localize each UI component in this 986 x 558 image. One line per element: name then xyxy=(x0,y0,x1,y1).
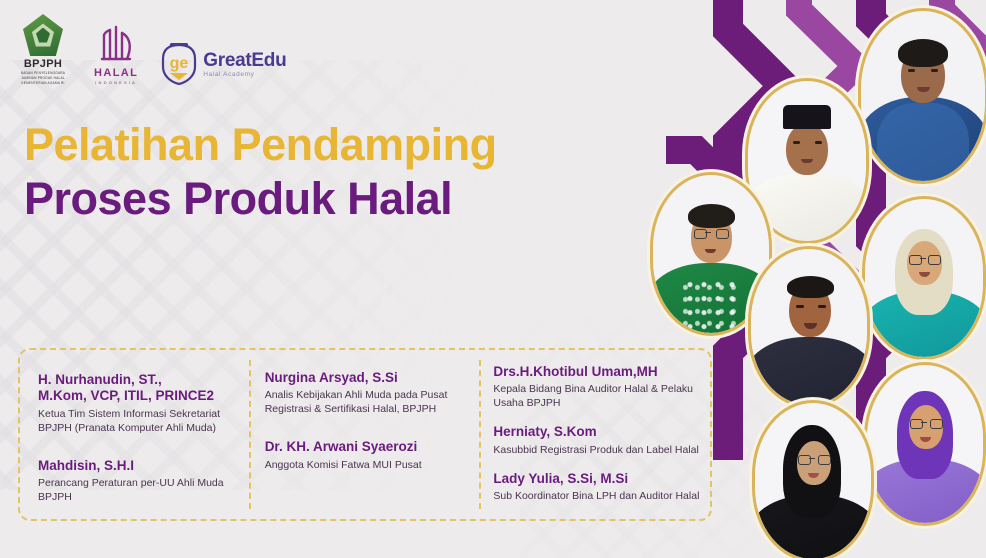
portrait-man-blue-batik xyxy=(858,8,986,184)
eyeglasses-icon xyxy=(910,419,943,428)
speaker-role: Sub Koordinator Bina LPH dan Auditor Hal… xyxy=(493,490,700,504)
speakers-column-3: Drs.H.Khotibul Umam,MH Kepala Bidang Bin… xyxy=(481,350,710,519)
poster-headline: Pelatihan Pendamping Proses Produk Halal xyxy=(24,122,497,223)
eyeglasses-icon xyxy=(694,229,729,238)
halal-logo-word: HALAL xyxy=(94,67,138,79)
speaker-entry: H. Nurhanudin, ST., M.Kom, VCP, ITIL, PR… xyxy=(38,372,237,436)
headline-line-2: Proses Produk Halal xyxy=(24,175,497,223)
portrait-woman-black-hijab xyxy=(752,400,874,558)
headline-line-1: Pelatihan Pendamping xyxy=(24,122,497,168)
speaker-entry: Drs.H.Khotibul Umam,MH Kepala Bidang Bin… xyxy=(493,364,700,411)
speaker-role: Kepala Bidang Bina Auditor Halal & Pelak… xyxy=(493,383,700,411)
speakers-column-1: H. Nurhanudin, ST., M.Kom, VCP, ITIL, PR… xyxy=(20,350,251,519)
speaker-role: Analis Kebijakan Ahli Muda pada Pusat Re… xyxy=(265,389,468,417)
halal-indonesia-logo: HALAL INDONESIA xyxy=(94,21,138,85)
speaker-name: Mahdisin, S.H.I xyxy=(38,458,237,474)
poster-canvas: BPJPH BADAN PENYELENGGARA JAMINAN PRODUK… xyxy=(0,0,986,558)
halal-logo-subtitle: INDONESIA xyxy=(95,80,137,85)
eyeglasses-icon xyxy=(909,255,941,264)
speaker-name: Dr. KH. Arwani Syaerozi xyxy=(265,439,468,455)
speaker-name: H. Nurhanudin, ST., xyxy=(38,372,237,388)
eyeglasses-icon xyxy=(798,455,831,464)
portrait-woman-teal xyxy=(862,196,986,360)
speaker-name: Drs.H.Khotibul Umam,MH xyxy=(493,364,700,380)
speaker-name-continued: M.Kom, VCP, ITIL, PRINCE2 xyxy=(38,388,237,404)
speaker-name: Herniaty, S.Kom xyxy=(493,424,700,440)
greatedu-monogram-icon: ge xyxy=(160,43,198,85)
greatedu-logo-subtitle: Halal Academy xyxy=(203,72,286,79)
halal-calligraphy-icon xyxy=(96,21,136,65)
bpjph-logo-word: BPJPH xyxy=(24,58,62,70)
speaker-role: Kasubbid Registrasi Produk dan Label Hal… xyxy=(493,444,700,458)
speaker-name: Nurgina Arsyad, S.Si xyxy=(265,370,468,386)
bpjph-logo-subtitle: BADAN PENYELENGGARA JAMINAN PRODUK HALAL… xyxy=(14,71,72,85)
speaker-entry: Dr. KH. Arwani Syaerozi Anggota Komisi F… xyxy=(265,439,468,472)
speaker-entry: Mahdisin, S.H.I Perancang Peraturan per-… xyxy=(38,458,237,505)
speaker-entry: Lady Yulia, S.Si, M.Si Sub Koordinator B… xyxy=(493,471,700,504)
speaker-entry: Nurgina Arsyad, S.Si Analis Kebijakan Ah… xyxy=(265,370,468,417)
speakers-column-2: Nurgina Arsyad, S.Si Analis Kebijakan Ah… xyxy=(251,350,482,519)
greatedu-logo: ge GreatEdu Halal Academy xyxy=(160,43,286,85)
svg-text:ge: ge xyxy=(170,55,189,72)
bpjph-emblem-icon xyxy=(23,14,63,56)
greatedu-logo-word: GreatEdu xyxy=(203,51,286,70)
speaker-role: Anggota Komisi Fatwa MUI Pusat xyxy=(265,459,468,473)
speaker-name: Lady Yulia, S.Si, M.Si xyxy=(493,471,700,487)
logo-row: BPJPH BADAN PENYELENGGARA JAMINAN PRODUK… xyxy=(14,14,286,85)
speaker-role: Perancang Peraturan per-UU Ahli Muda BPJ… xyxy=(38,477,237,505)
speaker-entry: Herniaty, S.Kom Kasubbid Registrasi Prod… xyxy=(493,424,700,457)
portrait-man-dark-shirt xyxy=(748,246,870,408)
peci-cap-shape xyxy=(783,105,831,129)
bpjph-logo: BPJPH BADAN PENYELENGGARA JAMINAN PRODUK… xyxy=(14,14,72,85)
speaker-role: Ketua Tim Sistem Informasi Sekretariat B… xyxy=(38,408,237,436)
portrait-woman-purple xyxy=(864,362,986,526)
speakers-panel: H. Nurhanudin, ST., M.Kom, VCP, ITIL, PR… xyxy=(18,348,712,521)
